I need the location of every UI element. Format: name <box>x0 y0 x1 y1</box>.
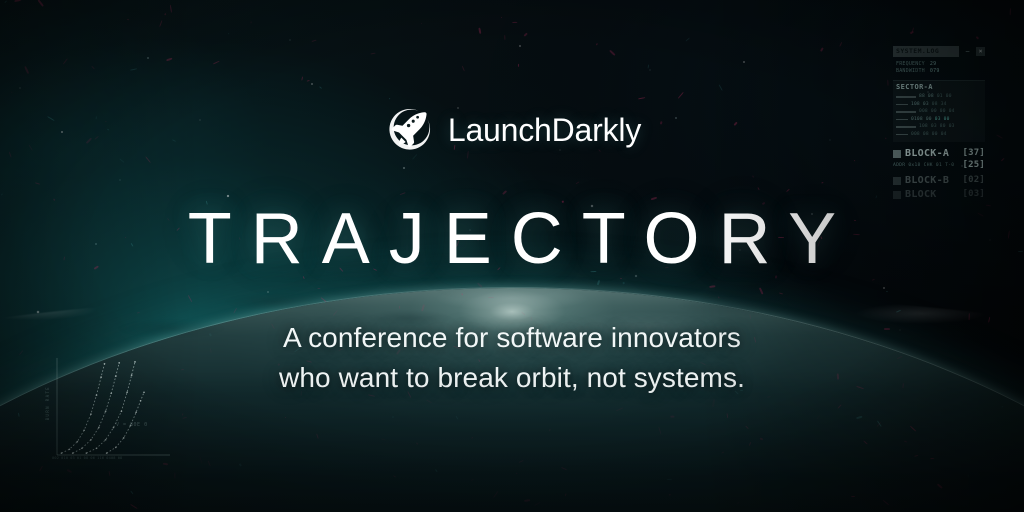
poster-canvas: LaunchDarkly TRAJECTORY A conference for… <box>0 0 1024 512</box>
vignette-overlay <box>0 0 1024 512</box>
